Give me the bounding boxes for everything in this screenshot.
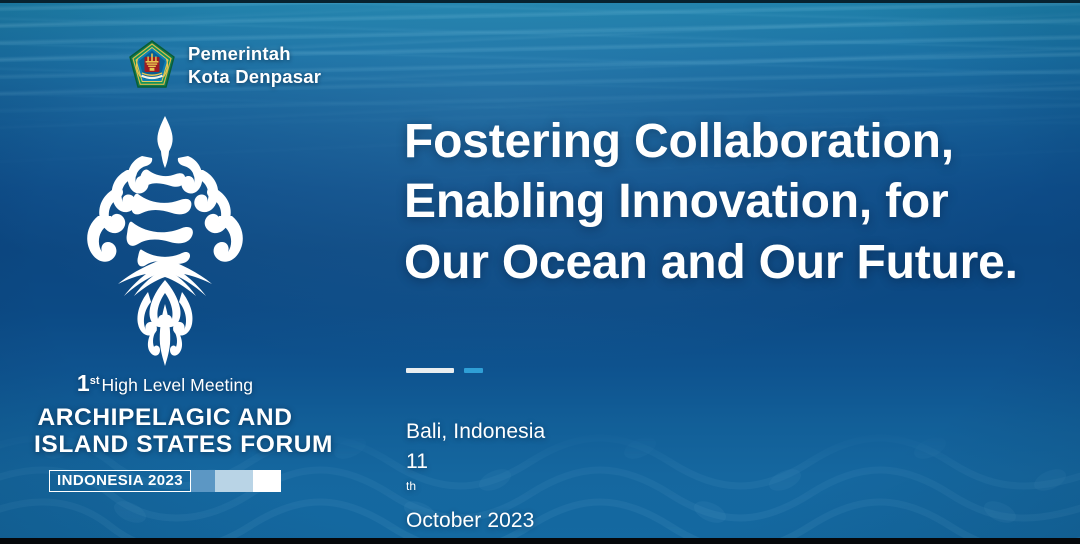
ais-forum-title-line2: ISLAND STATES FORUM [34, 431, 296, 458]
ais-forum-lockup: 1stHigh Level Meeting ARCHIPELAGIC AND I… [34, 112, 296, 492]
government-name-line2: Kota Denpasar [188, 66, 321, 89]
government-lockup: Pemerintah Kota Denpasar [128, 40, 321, 92]
letterbox-top [0, 0, 1080, 3]
meeting-label: High Level Meeting [102, 375, 254, 395]
event-date-suffix: th [406, 479, 416, 493]
divider-segment-accent [464, 368, 483, 373]
headline-line2: Enabling Innovation, for [404, 172, 1054, 232]
headline-line1: Fostering Collaboration, [404, 112, 1054, 172]
event-date-rest: October 2023 [406, 506, 545, 536]
ais-forum-title: ARCHIPELAGIC AND ISLAND STATES FORUM [34, 404, 296, 459]
badge-swatch-3 [253, 470, 281, 492]
banner-stage: Pemerintah Kota Denpasar [0, 0, 1080, 544]
ordinal-suffix: st [90, 375, 100, 387]
government-name-line1: Pemerintah [188, 43, 291, 64]
government-name: Pemerintah Kota Denpasar [188, 43, 321, 89]
event-date-day: 11 [406, 447, 545, 477]
indonesia-2023-badge: INDONESIA 2023 [34, 470, 296, 492]
badge-swatch-1 [191, 470, 215, 492]
event-date: 11th October 2023 [406, 447, 545, 536]
divider-segment-light [406, 368, 454, 373]
event-location: Bali, Indonesia [406, 417, 545, 447]
headline-line3: Our Ocean and Our Future. [404, 233, 1054, 293]
accent-divider [406, 368, 483, 373]
badge-swatch-2 [215, 470, 253, 492]
ordinal-number: 1 [77, 370, 90, 396]
headline-text: Fostering Collaboration, Enabling Innova… [404, 112, 1054, 293]
ais-forum-title-line1: ARCHIPELAGIC AND [37, 404, 292, 431]
indonesia-2023-badge-text: INDONESIA 2023 [49, 470, 191, 492]
letterbox-bottom [0, 538, 1080, 544]
ais-forum-ornament-icon [70, 112, 260, 368]
ais-meeting-ordinal-line: 1stHigh Level Meeting [34, 370, 296, 397]
denpasar-city-emblem-icon [128, 40, 176, 92]
event-details: Bali, Indonesia 11th October 2023 [406, 417, 545, 536]
